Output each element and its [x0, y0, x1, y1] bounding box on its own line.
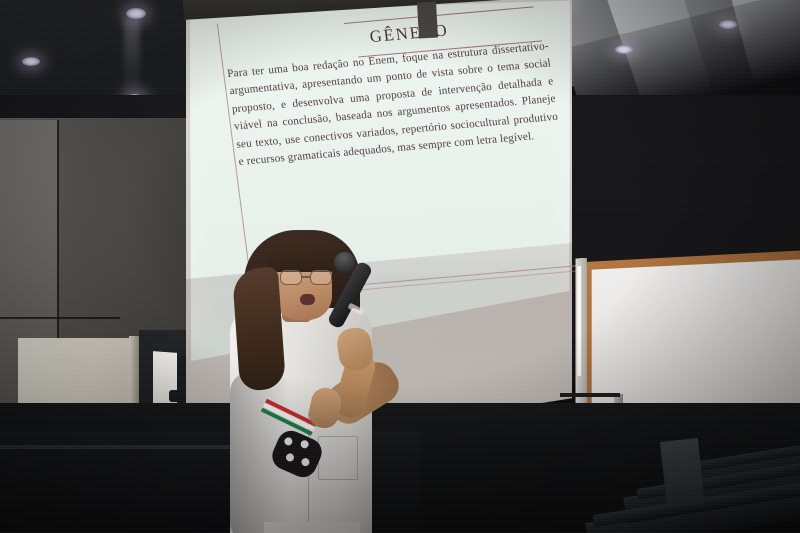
light-beam-cone-1 — [124, 18, 140, 106]
wall-rail — [560, 393, 620, 397]
cuff-dot — [283, 436, 294, 447]
presenter-hair-fringe — [268, 238, 340, 272]
ceiling-spotlight-1 — [126, 8, 146, 19]
cuff-dot — [299, 439, 310, 450]
stage-edge-line — [0, 445, 250, 449]
ceiling-spotlight-3 — [22, 57, 40, 66]
slide-body-text: Para ter uma boa redação no Enem, foque … — [226, 38, 561, 172]
presenter-hair-side — [232, 267, 286, 392]
glasses-bridge — [302, 276, 310, 278]
glasses-lens-right — [310, 270, 332, 285]
presenter-mouth — [300, 294, 315, 305]
cuff-dot — [300, 457, 311, 468]
presenter — [222, 222, 432, 533]
lecture-hall-photo: GÊNERO Para ter uma boa redação no Enem,… — [0, 0, 800, 533]
presenter-glasses — [280, 270, 332, 285]
presenter-lower-body — [264, 522, 360, 533]
wall-seam-horizontal — [0, 317, 120, 319]
presenter-coat-pocket — [318, 436, 358, 480]
screen-mount-bracket — [417, 1, 438, 38]
step-lit-panel — [660, 438, 705, 508]
whiteboard-edge-highlight — [577, 266, 581, 376]
glasses-lens-left — [280, 270, 302, 285]
ceiling-spotlight-5 — [615, 45, 633, 54]
cuff-dot — [285, 452, 296, 463]
ceiling-spotlight-6 — [719, 20, 737, 29]
